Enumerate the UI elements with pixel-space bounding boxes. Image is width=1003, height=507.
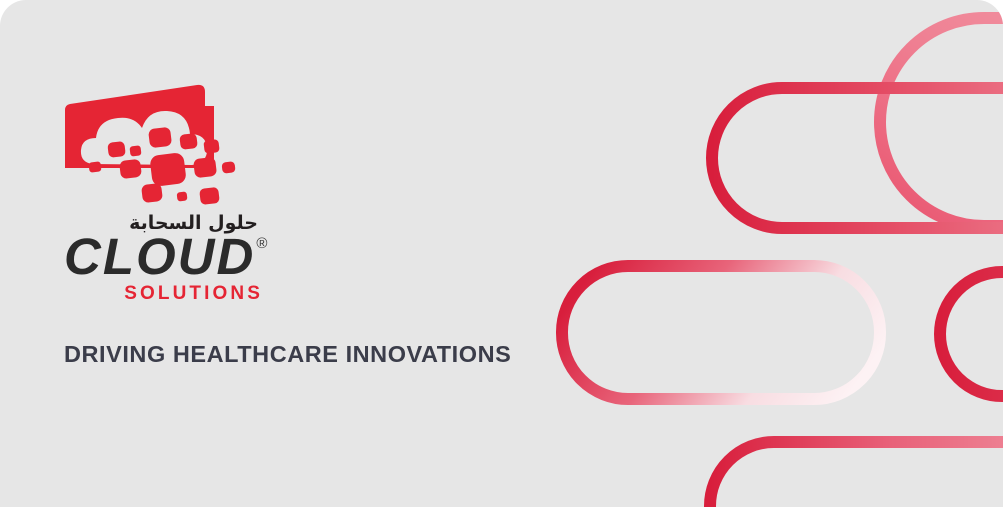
pill-top-right-light: [880, 18, 1003, 226]
brand-lockup: حلول السحابة CLOUD ® SOLUTIONS: [64, 84, 484, 303]
wordmark: حلول السحابة CLOUD ® SOLUTIONS: [64, 214, 264, 303]
pill-middle-fade: [562, 266, 880, 399]
brand-name: CLOUD: [64, 234, 255, 281]
brand-name-row: CLOUD ®: [64, 234, 264, 281]
registered-trademark-icon: ®: [256, 236, 267, 251]
pill-right-edge: [940, 272, 1003, 396]
promo-banner: حلول السحابة CLOUD ® SOLUTIONS DRIVING H…: [0, 0, 1003, 507]
pill-upper-main: [712, 88, 1003, 228]
tagline-heading: DRIVING HEALTHCARE INNOVATIONS: [64, 341, 511, 368]
cloud-pixels-logo-icon: [64, 84, 254, 210]
brand-subtitle: SOLUTIONS: [64, 284, 264, 303]
pill-bottom: [710, 442, 1003, 507]
